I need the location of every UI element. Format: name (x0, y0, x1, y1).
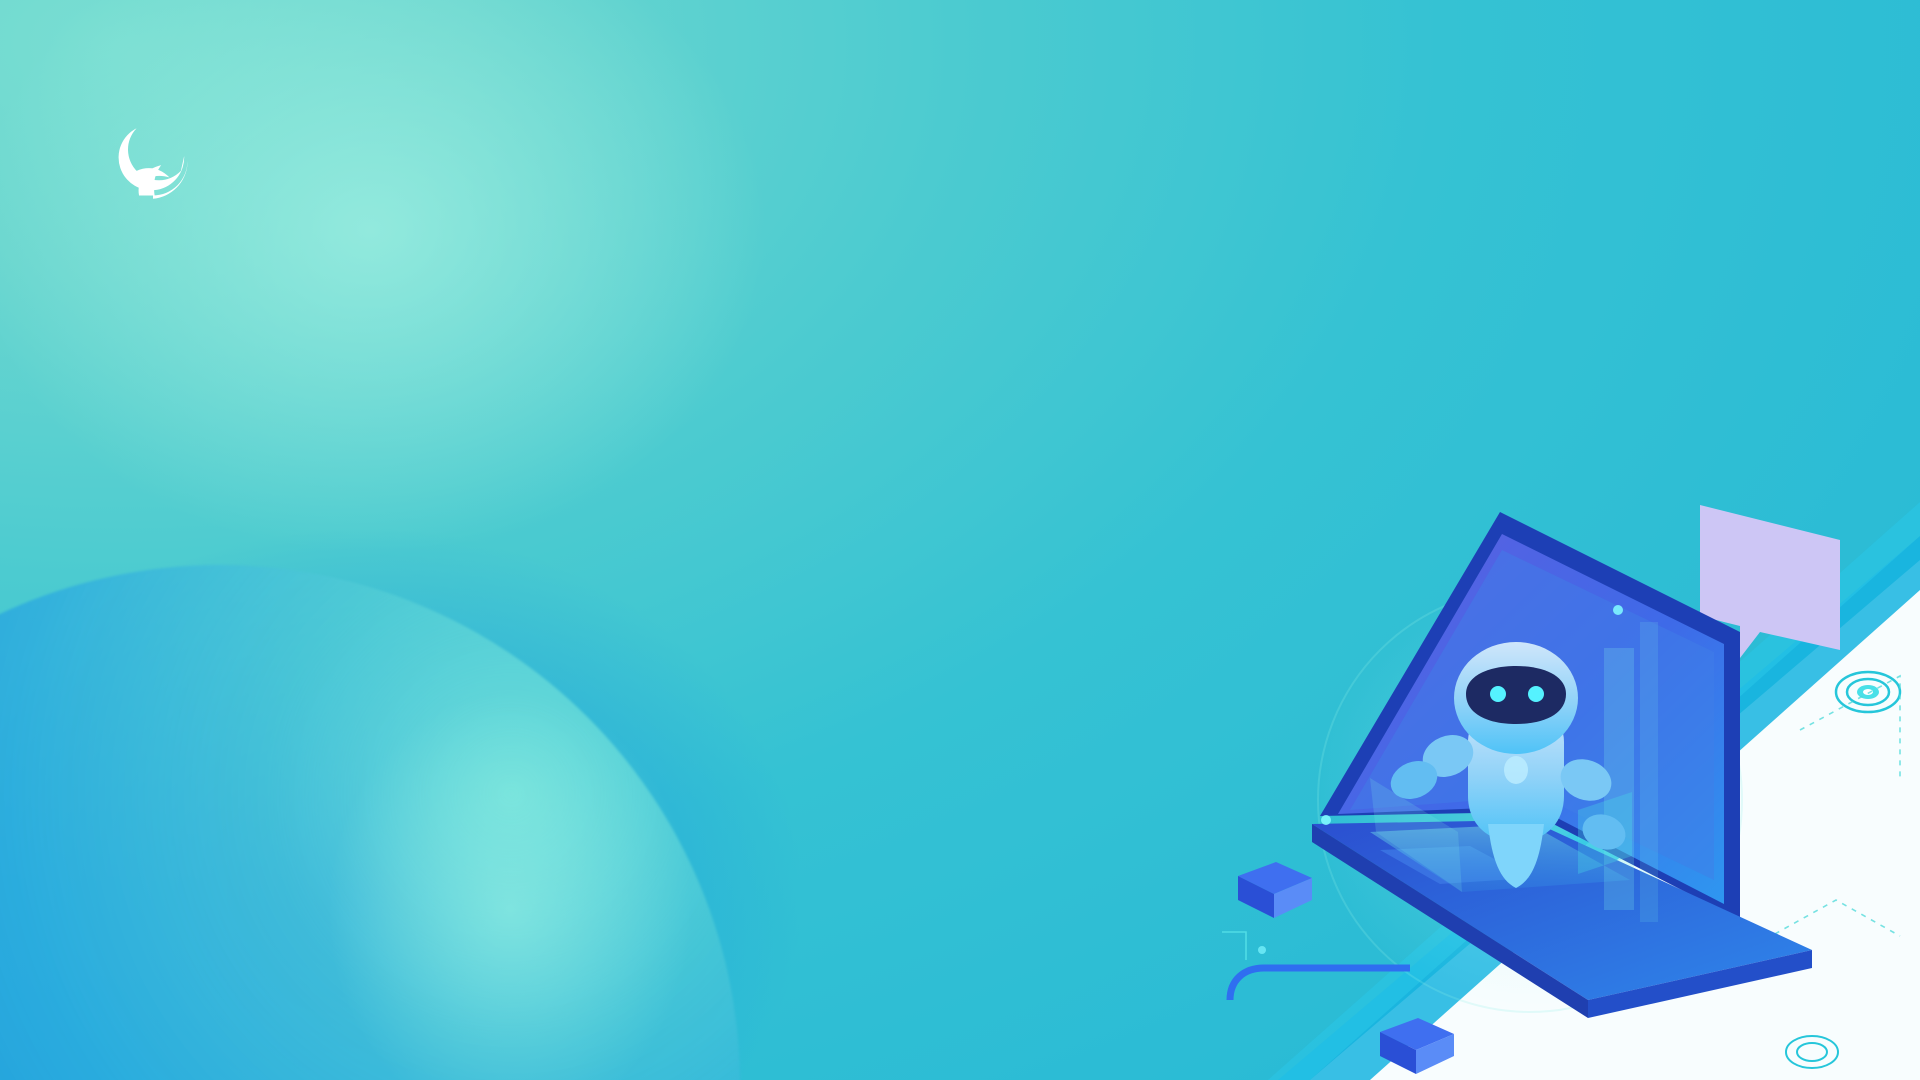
brand-logo (112, 120, 216, 202)
moonfox-wave-circle-icon (112, 120, 194, 202)
title-slide (0, 0, 1920, 1080)
